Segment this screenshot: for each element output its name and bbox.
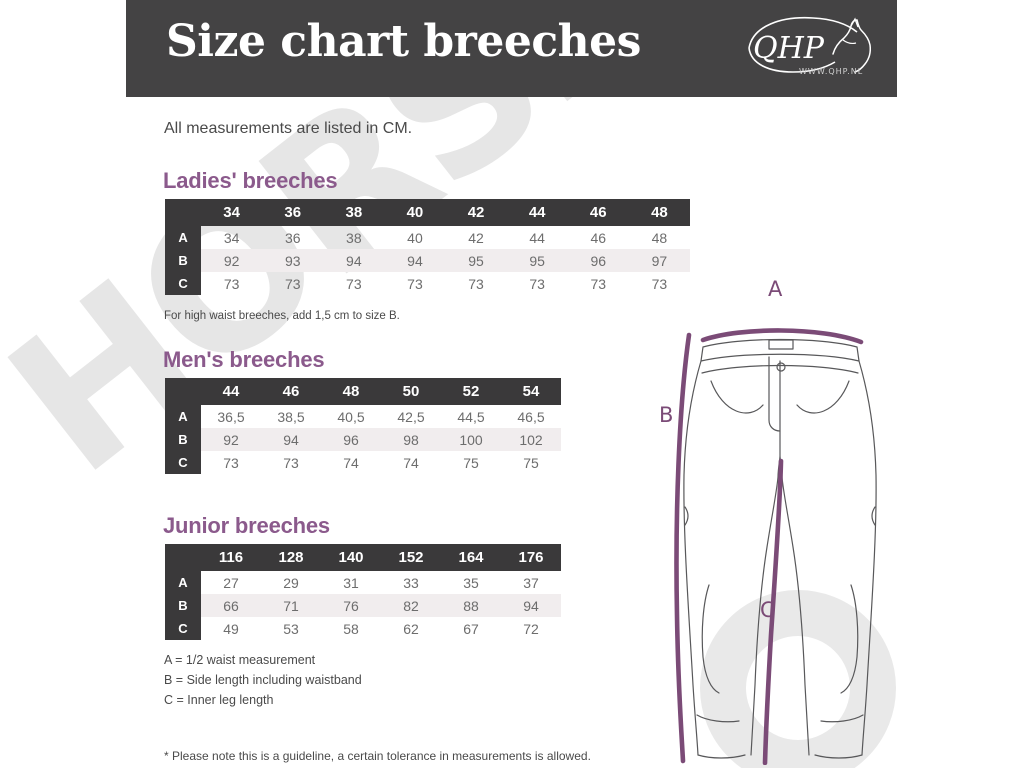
column-header: 48 [629,199,690,226]
diagram-label-b: B [659,403,673,427]
table-cell: 94 [323,249,384,272]
table-row: C 49 53 58 62 67 72 [165,617,561,640]
disclaimer-text: * Please note this is a guideline, a cer… [164,749,591,763]
table-cell: 74 [321,451,381,474]
table-cell: 73 [568,272,629,295]
table-cell: 88 [441,594,501,617]
table-row: B 92 94 96 98 100 102 [165,428,561,451]
table-cell: 36,5 [201,405,261,428]
column-header: 46 [261,378,321,405]
table-cell: 73 [201,451,261,474]
table-mens-breeches: 44 46 48 50 52 54 A 36,5 38,5 40,5 42,5 … [165,378,561,474]
table-cell: 94 [501,594,561,617]
table-ladies-breeches: 34 36 38 40 42 44 46 48 A 34 36 38 40 42… [165,199,690,295]
row-label: C [165,451,201,474]
row-label: B [165,594,201,617]
diagram-label-c: C [760,598,775,622]
table-header-row: 116 128 140 152 164 176 [165,544,561,571]
table-cell: 73 [261,451,321,474]
table-corner-cell [165,544,201,571]
table-cell: 73 [507,272,568,295]
legend-item-b: B = Side length including waistband [164,670,362,690]
table-cell: 38,5 [261,405,321,428]
table-cell: 42,5 [381,405,441,428]
table-cell: 66 [201,594,261,617]
table-corner-cell [165,378,201,405]
table-cell: 67 [441,617,501,640]
row-label: C [165,272,201,295]
column-header: 176 [501,544,561,571]
table-cell: 94 [384,249,445,272]
section-title-junior: Junior breeches [163,513,330,539]
table-cell: 97 [629,249,690,272]
table-corner-cell [165,199,201,226]
column-header: 44 [507,199,568,226]
table-cell: 53 [261,617,321,640]
legend-item-c: C = Inner leg length [164,690,362,710]
table-cell: 100 [441,428,501,451]
table-cell: 29 [261,571,321,594]
row-label: C [165,617,201,640]
table-cell: 73 [201,272,262,295]
column-header: 36 [262,199,323,226]
table-cell: 75 [441,451,501,474]
column-header: 140 [321,544,381,571]
table-cell: 48 [629,226,690,249]
table-row: C 73 73 74 74 75 75 [165,451,561,474]
table-row: B 92 93 94 94 95 95 96 97 [165,249,690,272]
column-header: 52 [441,378,501,405]
diagram-label-a: A [768,277,782,301]
column-header: 40 [384,199,445,226]
breeches-illustration-icon [645,285,935,765]
table-cell: 73 [262,272,323,295]
table-cell: 73 [446,272,507,295]
row-label: B [165,428,201,451]
table-cell: 71 [261,594,321,617]
ladies-note: For high waist breeches, add 1,5 cm to s… [164,310,400,322]
table-cell: 95 [507,249,568,272]
table-cell: 42 [446,226,507,249]
table-header-row: 44 46 48 50 52 54 [165,378,561,405]
table-row: A 34 36 38 40 42 44 46 48 [165,226,690,249]
table-cell: 74 [381,451,441,474]
column-header: 48 [321,378,381,405]
table-cell: 96 [568,249,629,272]
table-cell: 37 [501,571,561,594]
table-cell: 40,5 [321,405,381,428]
column-header: 34 [201,199,262,226]
table-cell: 58 [321,617,381,640]
legend-item-a: A = 1/2 waist measurement [164,650,362,670]
column-header: 116 [201,544,261,571]
table-cell: 73 [384,272,445,295]
column-header: 50 [381,378,441,405]
table-row: A 36,5 38,5 40,5 42,5 44,5 46,5 [165,405,561,428]
table-cell: 46 [568,226,629,249]
intro-text: All measurements are listed in CM. [164,120,412,138]
table-cell: 73 [323,272,384,295]
table-cell: 92 [201,249,262,272]
column-header: 128 [261,544,321,571]
table-row: B 66 71 76 82 88 94 [165,594,561,617]
legend: A = 1/2 waist measurement B = Side lengt… [164,650,362,710]
table-cell: 38 [323,226,384,249]
table-cell: 94 [261,428,321,451]
table-cell: 27 [201,571,261,594]
table-cell: 44 [507,226,568,249]
table-cell: 62 [381,617,441,640]
table-cell: 40 [384,226,445,249]
column-header: 42 [446,199,507,226]
row-label: A [165,405,201,428]
row-label: B [165,249,201,272]
table-cell: 95 [446,249,507,272]
table-cell: 49 [201,617,261,640]
table-cell: 33 [381,571,441,594]
table-cell: 76 [321,594,381,617]
column-header: 164 [441,544,501,571]
table-cell: 96 [321,428,381,451]
table-cell: 92 [201,428,261,451]
table-cell: 93 [262,249,323,272]
table-junior-breeches: 116 128 140 152 164 176 A 27 29 31 33 35… [165,544,561,640]
column-header: 54 [501,378,561,405]
table-cell: 36 [262,226,323,249]
table-row: C 73 73 73 73 73 73 73 73 [165,272,690,295]
section-title-mens: Men's breeches [163,347,324,373]
table-cell: 44,5 [441,405,501,428]
table-header-row: 34 36 38 40 42 44 46 48 [165,199,690,226]
table-row: A 27 29 31 33 35 37 [165,571,561,594]
column-header: 46 [568,199,629,226]
section-title-ladies: Ladies' breeches [163,168,337,194]
column-header: 152 [381,544,441,571]
table-cell: 46,5 [501,405,561,428]
size-chart-page: HORSIMO Size chart breeches QHP WWW.QHP.… [0,0,1024,768]
row-label: A [165,571,201,594]
table-cell: 35 [441,571,501,594]
table-cell: 82 [381,594,441,617]
table-cell: 102 [501,428,561,451]
measure-line-b [677,335,690,761]
table-cell: 72 [501,617,561,640]
table-cell: 75 [501,451,561,474]
column-header: 44 [201,378,261,405]
table-cell: 98 [381,428,441,451]
content-area: All measurements are listed in CM. Ladie… [0,0,1024,768]
breeches-diagram: A B C [645,285,935,765]
table-cell: 34 [201,226,262,249]
row-label: A [165,226,201,249]
table-cell: 31 [321,571,381,594]
column-header: 38 [323,199,384,226]
